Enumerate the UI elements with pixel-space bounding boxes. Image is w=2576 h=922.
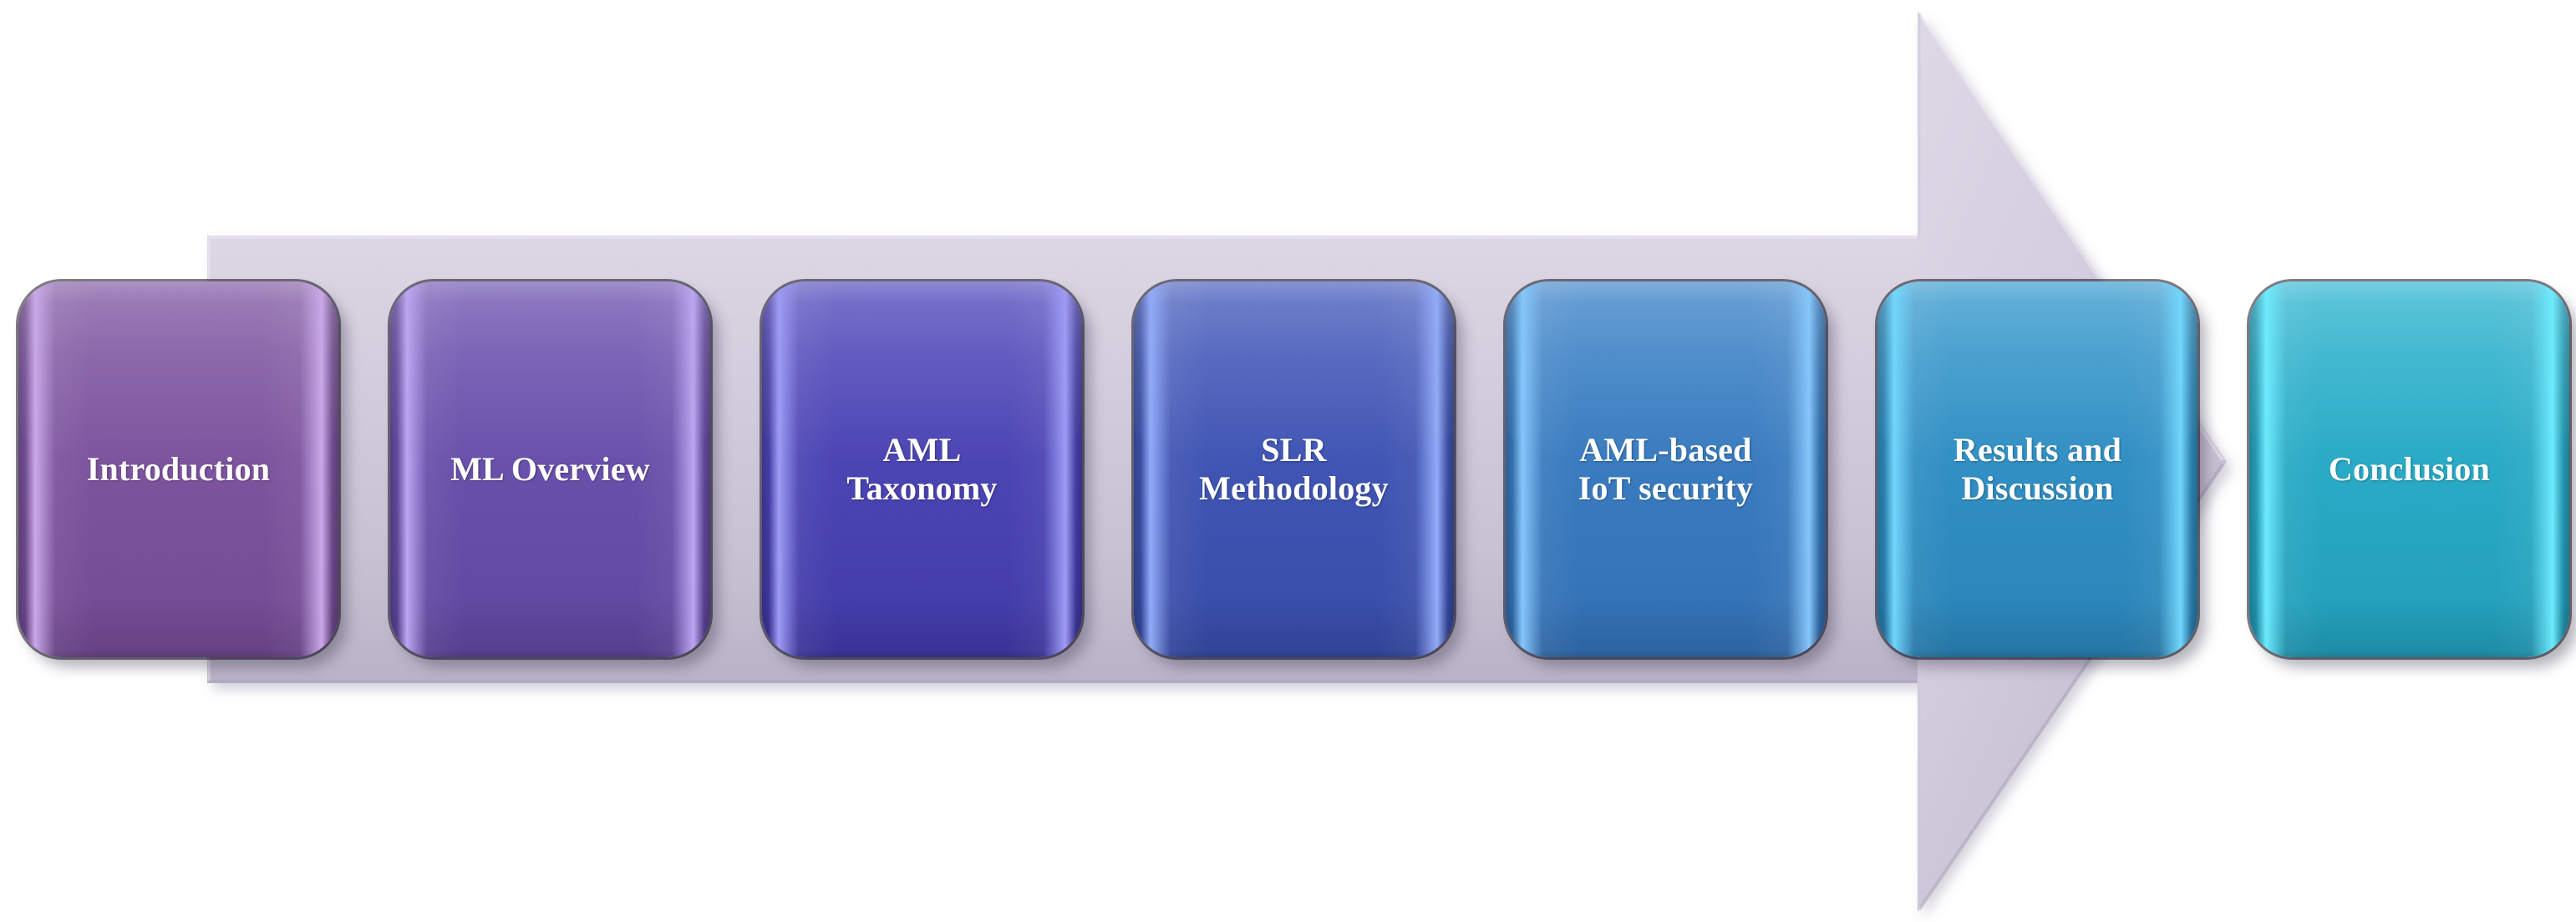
- step-box-label: Results andDiscussion: [1940, 431, 2135, 509]
- diagram-canvas: Introduction ML Overview AMLTaxonomy SLR…: [0, 0, 2576, 922]
- step-box-label: AMLTaxonomy: [833, 431, 1010, 509]
- step-box-label-line: Taxonomy: [846, 469, 997, 508]
- step-box-label: ML Overview: [437, 450, 663, 489]
- step-box-label-line: SLR: [1199, 431, 1389, 469]
- step-box-label: SLRMethodology: [1186, 431, 1402, 509]
- step-box-6[interactable]: Results andDiscussion: [1877, 281, 2197, 657]
- step-box-2[interactable]: ML Overview: [390, 281, 710, 657]
- step-box-1[interactable]: Introduction: [18, 281, 338, 657]
- step-box-label-line: Discussion: [1954, 469, 2121, 508]
- step-box-label: AML-basedIoT security: [1565, 431, 1766, 509]
- step-box-label-line: Results and: [1954, 431, 2121, 469]
- step-box-label-line: Conclusion: [2329, 450, 2490, 489]
- step-box-label-line: ML Overview: [450, 450, 650, 489]
- step-box-label-line: Methodology: [1199, 469, 1389, 508]
- step-box-label-line: AML-based: [1578, 431, 1753, 469]
- step-box-label-line: IoT security: [1578, 469, 1753, 508]
- step-box-7[interactable]: Conclusion: [2249, 281, 2569, 657]
- step-box-label: Conclusion: [2315, 450, 2503, 489]
- step-box-label: Introduction: [74, 450, 284, 489]
- step-box-5[interactable]: AML-basedIoT security: [1506, 281, 1826, 657]
- step-box-3[interactable]: AMLTaxonomy: [762, 281, 1082, 657]
- step-box-label-line: AML: [846, 431, 997, 469]
- step-box-label-line: Introduction: [87, 450, 271, 489]
- step-box-4[interactable]: SLRMethodology: [1134, 281, 1454, 657]
